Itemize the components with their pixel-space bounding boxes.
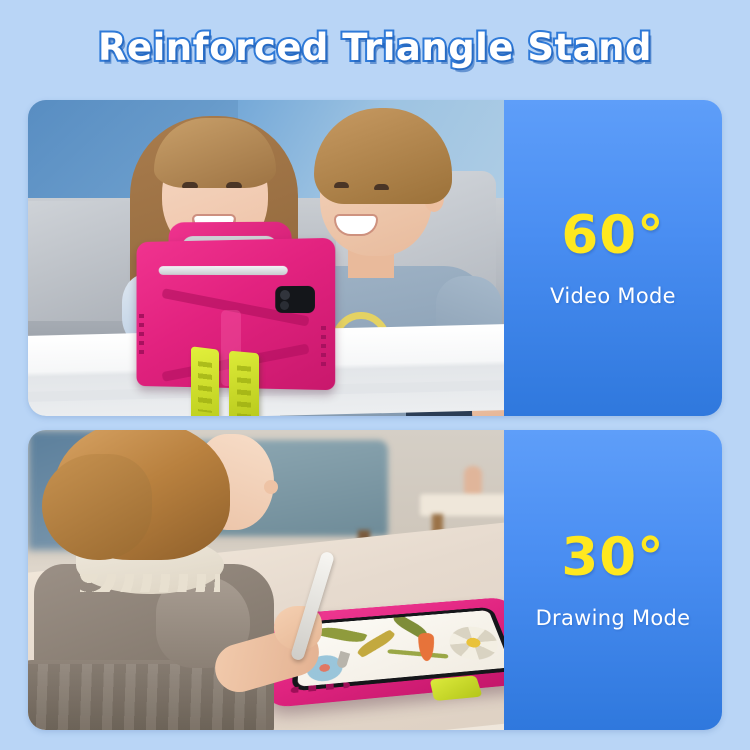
photo-side-table-top xyxy=(420,494,504,516)
mode-label: Video Mode xyxy=(550,284,676,308)
boy-eye-right xyxy=(374,184,389,190)
kickstand-leg-left-holes xyxy=(198,361,212,413)
angle-value: 30° xyxy=(561,531,664,584)
girl-eye-left xyxy=(182,182,198,188)
feature-panel-drawing-mode: 30° Drawing Mode xyxy=(28,430,722,730)
page-title: Reinforced Triangle Stand xyxy=(98,26,652,69)
mode-label: Drawing Mode xyxy=(536,606,691,630)
photo-child-girl-drawing xyxy=(28,430,298,730)
drawing-flower-large xyxy=(445,625,503,662)
drawing-leaf-1 xyxy=(316,625,367,645)
kickstand-leg-left xyxy=(191,346,219,416)
stylus-holder-slot xyxy=(159,266,288,275)
product-photo-drawing-mode xyxy=(28,430,504,730)
tablet-case-video-mode xyxy=(133,240,333,388)
camera-lens-bottom xyxy=(280,301,289,310)
angle-value: 60° xyxy=(561,209,664,262)
kickstand-leg-right xyxy=(229,351,259,416)
feature-panel-video-mode: 60° Video Mode xyxy=(28,100,722,416)
angle-info-drawing-mode: 30° Drawing Mode xyxy=(504,430,722,730)
case-vent-dots-left xyxy=(139,314,144,354)
girl-eye-right xyxy=(226,182,242,188)
photo-vase xyxy=(464,466,482,496)
camera-lens-top xyxy=(280,290,290,300)
girl-nose xyxy=(264,480,278,494)
drawing-stem xyxy=(387,649,448,659)
kickstand-leg-right-holes xyxy=(237,365,251,416)
page-title-container: Reinforced Triangle Stand xyxy=(0,26,750,69)
product-photo-video-mode xyxy=(28,100,504,416)
angle-info-video-mode: 60° Video Mode xyxy=(504,100,722,416)
girl-lace-trim xyxy=(80,574,220,592)
kickstand-leg xyxy=(430,675,483,701)
girl-hair-lower xyxy=(42,454,152,560)
case-vent-dots-right xyxy=(321,326,326,366)
boy-eye-left xyxy=(334,182,349,188)
